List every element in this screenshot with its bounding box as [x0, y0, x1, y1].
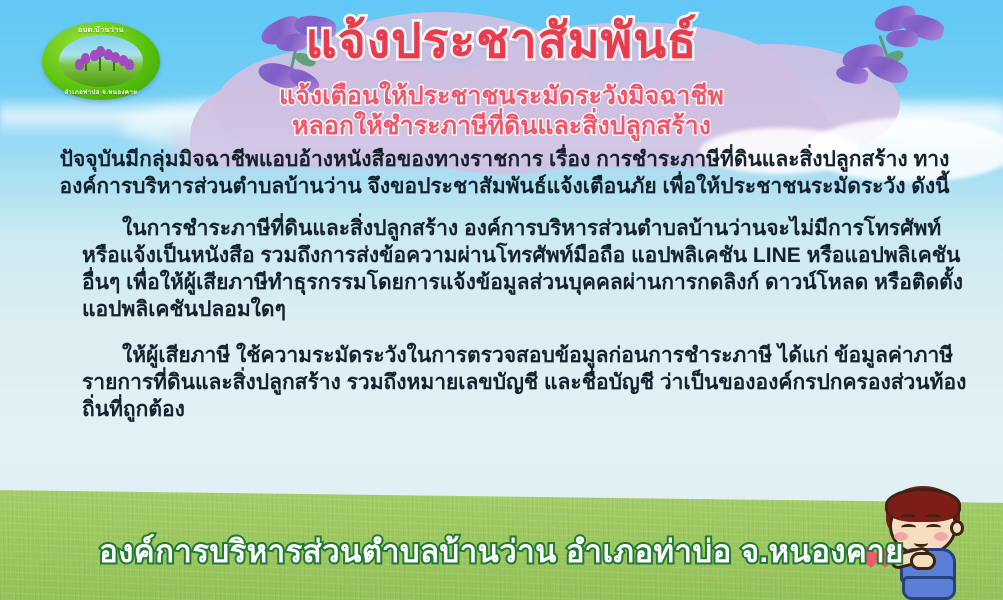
subtitle-line-1: แจ้งเตือนให้ประชาชนระมัดระวังมิจฉาชีพ: [0, 82, 1003, 112]
subtitle-line-2: หลอกให้ชำระภาษีที่ดินและสิ่งปลูกสร้าง: [0, 112, 1003, 142]
boy-eyebrow: [900, 514, 916, 521]
boy-hair: [885, 488, 961, 522]
boy-eyebrow: [925, 514, 941, 521]
body-content: ปัจจุบันมีกลุ่มมิจฉาชีพแอบอ้างหนังสือของ…: [28, 146, 981, 430]
paragraph-1: ปัจจุบันมีกลุ่มมิจฉาชีพแอบอ้างหนังสือของ…: [28, 146, 981, 201]
paragraph-3: ให้ผู้เสียภาษี ใช้ความระมัดระวังในการตรว…: [28, 342, 981, 424]
announcement-poster: อบต.บ้านว่าน อำเภอท่าบ่อ จ.หนองคาย แจ้งป…: [0, 0, 1003, 600]
paragraph-2: ในการชำระภาษีที่ดินและสิ่งปลูกสร้าง องค์…: [28, 215, 981, 324]
page-title: แจ้งประชาสัมพันธ์: [0, 18, 1003, 67]
footer-organization: องค์การบริหารส่วนตำบลบ้านว่าน อำเภอท่าบ่…: [0, 526, 1003, 576]
subtitle-block: แจ้งเตือนให้ประชาชนระมัดระวังมิจฉาชีพ หล…: [0, 82, 1003, 141]
boy-pants: [902, 576, 956, 600]
